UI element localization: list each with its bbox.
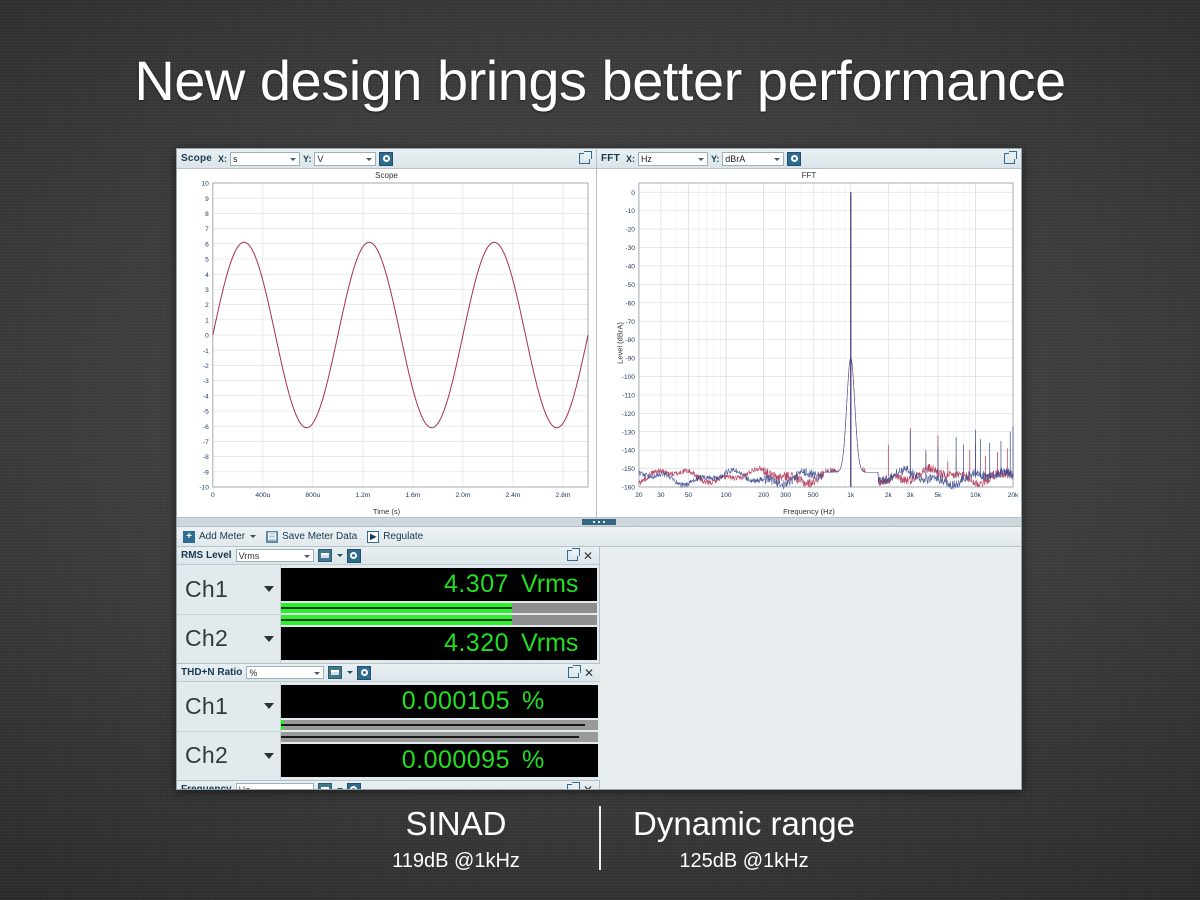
- scope-x-unit-select[interactable]: s: [230, 152, 300, 166]
- gear-icon: [791, 155, 798, 162]
- svg-text:30: 30: [657, 492, 665, 499]
- fft-y-unit-select[interactable]: dBrA: [722, 152, 784, 166]
- plus-icon: +: [183, 531, 195, 543]
- chevron-down-icon[interactable]: [264, 586, 274, 592]
- save-icon: ▤: [266, 531, 278, 543]
- svg-text:3k: 3k: [907, 492, 915, 499]
- scope-plot[interactable]: Scope Instantaneous Level (V) Time (s) -…: [177, 169, 596, 517]
- channel-label: Ch1: [185, 576, 228, 603]
- svg-text:-140: -140: [622, 448, 635, 455]
- chevron-down-icon[interactable]: [337, 788, 343, 790]
- level-bar-needle: [281, 607, 512, 609]
- fft-y-unit-value: dBrA: [725, 154, 745, 164]
- scope-panel: Scope X: s Y: V Scope: [177, 149, 597, 517]
- meter-unit-value: Hz: [239, 785, 250, 791]
- readout-value: 0.000095: [402, 748, 510, 773]
- svg-text:-20: -20: [625, 227, 635, 234]
- page-title: New design brings better performance: [0, 48, 1200, 113]
- scope-panel-title: Scope: [181, 153, 215, 164]
- svg-text:-2: -2: [203, 363, 209, 370]
- svg-text:-7: -7: [203, 439, 209, 446]
- panel-splitter[interactable]: [177, 517, 1021, 527]
- gear-icon: [350, 552, 357, 559]
- svg-text:0: 0: [211, 492, 215, 499]
- meter-body: Ch1 Ch2 4.307 Vrms: [177, 565, 599, 663]
- fft-header-actions: [1004, 153, 1017, 164]
- spec-dynamic-range-value: 125dB @1kHz: [633, 846, 855, 876]
- chevron-down-icon[interactable]: [250, 535, 256, 538]
- spec-sinad-value: 119dB @1kHz: [345, 846, 567, 876]
- meter-header-actions: ✕: [568, 667, 596, 679]
- svg-text:2.8m: 2.8m: [556, 492, 571, 499]
- channel-label: Ch2: [185, 742, 228, 769]
- svg-text:6: 6: [205, 241, 209, 248]
- svg-text:1k: 1k: [847, 492, 855, 499]
- close-icon[interactable]: ✕: [583, 784, 593, 791]
- spec-sinad-title: SINAD: [345, 802, 567, 846]
- fft-plot[interactable]: FFT Level (dBrA) Frequency (Hz) 0-10-20-…: [597, 169, 1021, 517]
- spec-dynamic-range-title: Dynamic range: [633, 802, 855, 846]
- fft-panel-title: FFT: [601, 153, 623, 164]
- gear-icon: [350, 786, 357, 790]
- scope-header-actions: [579, 153, 592, 164]
- meter-display-mode-button[interactable]: [318, 549, 332, 562]
- level-bars: [281, 718, 598, 744]
- chevron-down-icon[interactable]: [347, 671, 353, 674]
- meter-panel-rms-level: RMS Level Vrms ✕ Ch1: [177, 547, 600, 664]
- meter-title: Frequency: [181, 784, 232, 790]
- scope-x-unit-value: s: [233, 154, 238, 164]
- readout-column: 4.307 Vrms 4.320: [281, 565, 599, 663]
- chevron-down-icon[interactable]: [264, 703, 274, 709]
- meter-settings-button[interactable]: [347, 783, 361, 791]
- meter-settings-button[interactable]: [347, 549, 361, 563]
- svg-text:2: 2: [205, 302, 209, 309]
- level-bar: [281, 720, 598, 730]
- grip-dot: [593, 521, 595, 523]
- meter-unit-select[interactable]: Vrms: [236, 549, 314, 562]
- svg-text:1.2m: 1.2m: [355, 492, 370, 499]
- svg-text:-10: -10: [625, 208, 635, 215]
- fft-panel: FFT X: Hz Y: dBrA FFT: [597, 149, 1021, 517]
- readout-unit: %: [522, 748, 590, 773]
- scope-y-unit-select[interactable]: V: [314, 152, 376, 166]
- svg-text:-110: -110: [622, 392, 635, 399]
- svg-text:100: 100: [721, 492, 732, 499]
- svg-text:-160: -160: [622, 485, 635, 492]
- meter-header-actions: ✕: [567, 550, 595, 562]
- readout-value: 4.320: [444, 631, 509, 656]
- svg-text:10k: 10k: [970, 492, 981, 499]
- svg-text:9: 9: [205, 196, 209, 203]
- svg-text:-120: -120: [622, 411, 635, 418]
- meter-popout-icon[interactable]: [567, 550, 578, 561]
- level-bar: [281, 732, 598, 742]
- scope-popout-icon[interactable]: [579, 153, 590, 164]
- meter-settings-button[interactable]: [357, 666, 371, 680]
- readout-unit: Vrms: [521, 572, 589, 597]
- scope-svg: -10-9-8-7-6-5-4-3-2-10123456789100400u80…: [177, 169, 596, 517]
- readout-unit: Vrms: [521, 631, 589, 656]
- readout-unit: %: [522, 689, 590, 714]
- regulate-label: Regulate: [383, 531, 423, 542]
- fft-svg: 0-10-20-30-40-50-60-70-80-90-100-110-120…: [597, 169, 1021, 517]
- svg-text:2k: 2k: [885, 492, 893, 499]
- chevron-down-icon: [698, 158, 704, 161]
- readout-value: 4.307: [444, 572, 509, 597]
- svg-text:-10: -10: [199, 485, 209, 492]
- svg-text:20k: 20k: [1008, 492, 1019, 499]
- svg-text:5k: 5k: [934, 492, 942, 499]
- meter-popout-icon[interactable]: [568, 667, 579, 678]
- svg-text:-30: -30: [625, 245, 635, 252]
- audio-analyzer-window: Scope X: s Y: V Scope: [176, 148, 1022, 790]
- channel-label: Ch2: [185, 625, 228, 652]
- scope-panel-header: Scope X: s Y: V: [177, 149, 596, 169]
- svg-text:5: 5: [205, 257, 209, 264]
- meters-grid: RMS Level Vrms ✕ Ch1: [177, 547, 1021, 790]
- svg-text:300: 300: [780, 492, 791, 499]
- chevron-down-icon: [314, 672, 320, 675]
- meter-header: THD+N Ratio % ✕: [177, 664, 600, 682]
- meter-title: THD+N Ratio: [181, 667, 242, 678]
- meter-display-mode-button[interactable]: [328, 666, 342, 679]
- svg-text:-50: -50: [625, 282, 635, 289]
- splitter-grip[interactable]: [582, 519, 616, 525]
- svg-text:0: 0: [631, 190, 635, 197]
- meter-toolbar: + Add Meter ▤ Save Meter Data ▶ Regulate: [177, 527, 1021, 547]
- grip-dot: [598, 521, 600, 523]
- channel-selector[interactable]: Ch2: [177, 614, 280, 664]
- channel-label: Ch1: [185, 693, 228, 720]
- chevron-down-icon[interactable]: [264, 636, 274, 642]
- meter-header-actions: ✕: [567, 784, 595, 791]
- close-icon[interactable]: ✕: [584, 667, 594, 679]
- svg-text:200: 200: [758, 492, 769, 499]
- meter-title: RMS Level: [181, 550, 232, 561]
- fft-y-axis-label: Y:: [711, 154, 719, 164]
- meter-body: Ch1 Ch2 0.000105 %: [177, 682, 600, 780]
- svg-text:-150: -150: [622, 466, 635, 473]
- svg-text:-40: -40: [625, 264, 635, 271]
- readout-value-box: 4.320 Vrms: [281, 627, 597, 660]
- svg-text:7: 7: [205, 226, 209, 233]
- readout-value-box: 0.000105 %: [281, 685, 598, 718]
- graph-row: Scope X: s Y: V Scope: [177, 149, 1021, 517]
- meter-unit-value: %: [249, 668, 257, 678]
- channel-label-column: Ch1 Ch2: [177, 565, 281, 663]
- svg-text:-1: -1: [203, 348, 209, 355]
- chevron-down-icon[interactable]: [264, 753, 274, 759]
- add-meter-label: Add Meter: [199, 531, 245, 542]
- meter-display-mode-button[interactable]: [318, 783, 332, 790]
- svg-text:20: 20: [635, 492, 643, 499]
- play-icon: ▶: [367, 531, 379, 543]
- meter-unit-select[interactable]: Hz: [236, 783, 314, 790]
- svg-text:800u: 800u: [305, 492, 320, 499]
- meter-unit-select[interactable]: %: [246, 666, 324, 679]
- svg-text:0: 0: [205, 333, 209, 340]
- channel-selector[interactable]: Ch2: [177, 731, 280, 781]
- fft-x-unit-select[interactable]: Hz: [638, 152, 708, 166]
- channel-label-column: Ch1 Ch2: [177, 682, 281, 780]
- chevron-down-icon: [304, 789, 310, 791]
- svg-text:-60: -60: [625, 300, 635, 307]
- chevron-down-icon: [304, 555, 310, 558]
- svg-text:3: 3: [205, 287, 209, 294]
- svg-text:-8: -8: [203, 454, 209, 461]
- chevron-down-icon[interactable]: [337, 554, 343, 557]
- readout-column: 0.000105 % 0.000095: [281, 682, 600, 780]
- svg-text:500: 500: [808, 492, 819, 499]
- chevron-down-icon: [290, 158, 296, 161]
- level-bar-needle: [281, 619, 512, 621]
- svg-text:-70: -70: [625, 319, 635, 326]
- fft-popout-icon[interactable]: [1004, 153, 1015, 164]
- fft-panel-header: FFT X: Hz Y: dBrA: [597, 149, 1021, 169]
- svg-text:-4: -4: [203, 393, 209, 400]
- svg-text:2.4m: 2.4m: [505, 492, 520, 499]
- svg-text:50: 50: [685, 492, 693, 499]
- readout-value-box: 4.307 Vrms: [281, 568, 597, 601]
- level-bar: [281, 615, 597, 625]
- svg-text:-90: -90: [625, 356, 635, 363]
- spec-dynamic-range: Dynamic range 125dB @1kHz: [619, 802, 869, 876]
- save-meter-data-button[interactable]: ▤ Save Meter Data: [266, 531, 357, 543]
- gear-icon: [361, 669, 368, 676]
- level-bar-needle: [281, 724, 585, 726]
- meter-panel-frequency: Frequency Hz ✕ Ch1: [177, 781, 600, 790]
- spec-summary: SINAD 119dB @1kHz Dynamic range 125dB @1…: [0, 802, 1200, 876]
- scope-y-axis-label: Y:: [303, 154, 311, 164]
- grip-dot: [603, 521, 605, 523]
- gear-icon: [383, 155, 390, 162]
- svg-text:400u: 400u: [255, 492, 270, 499]
- regulate-button[interactable]: ▶ Regulate: [367, 531, 423, 543]
- channel-selector[interactable]: Ch1: [177, 565, 280, 614]
- meter-panel-thd-n-ratio: THD+N Ratio % ✕ Ch1: [177, 664, 600, 781]
- level-bar: [281, 603, 597, 613]
- svg-text:1.6m: 1.6m: [405, 492, 420, 499]
- meter-popout-icon[interactable]: [567, 784, 578, 790]
- spec-sinad: SINAD 119dB @1kHz: [331, 802, 581, 876]
- level-bars: [281, 601, 597, 627]
- svg-text:-100: -100: [622, 374, 635, 381]
- svg-text:1: 1: [205, 317, 209, 324]
- fft-settings-button[interactable]: [787, 152, 801, 166]
- svg-text:2.0m: 2.0m: [455, 492, 470, 499]
- svg-text:8: 8: [205, 211, 209, 218]
- save-meter-data-label: Save Meter Data: [282, 531, 357, 542]
- scope-x-axis-label: X:: [218, 154, 227, 164]
- svg-text:-80: -80: [625, 337, 635, 344]
- meter-header: RMS Level Vrms ✕: [177, 547, 599, 565]
- level-bar-needle: [281, 736, 579, 738]
- svg-text:-6: -6: [203, 424, 209, 431]
- svg-text:-9: -9: [203, 469, 209, 476]
- scope-settings-button[interactable]: [379, 152, 393, 166]
- fft-x-axis-label: X:: [626, 154, 635, 164]
- readout-value: 0.000105: [402, 689, 510, 714]
- chevron-down-icon: [774, 158, 780, 161]
- svg-text:-130: -130: [622, 429, 635, 436]
- chevron-down-icon: [366, 158, 372, 161]
- meter-unit-value: Vrms: [239, 551, 260, 561]
- svg-text:4: 4: [205, 272, 209, 279]
- svg-text:10: 10: [202, 181, 210, 188]
- meter-header: Frequency Hz ✕: [177, 781, 599, 790]
- readout-value-box: 0.000095 %: [281, 744, 598, 777]
- spec-divider: [599, 806, 601, 870]
- close-icon[interactable]: ✕: [583, 550, 593, 562]
- svg-text:-5: -5: [203, 409, 209, 416]
- fft-x-unit-value: Hz: [641, 154, 652, 164]
- scope-y-unit-value: V: [317, 154, 323, 164]
- svg-text:-3: -3: [203, 378, 209, 385]
- channel-selector[interactable]: Ch1: [177, 682, 280, 731]
- add-meter-button[interactable]: + Add Meter: [183, 531, 256, 543]
